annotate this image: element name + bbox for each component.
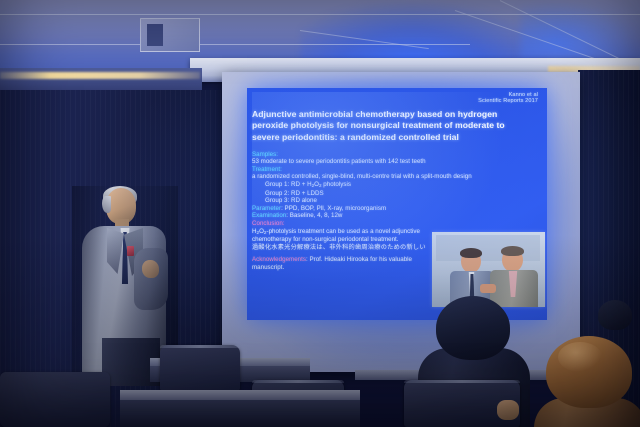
examination-value: : Baseline, 4, 8, 12w <box>286 212 342 219</box>
photo-inset-hair <box>501 246 524 256</box>
ceiling-blue-glow-right <box>520 0 640 60</box>
slide-attribution-journal: Scientific Reports 2017 <box>252 98 542 104</box>
audience-head <box>436 296 510 360</box>
photo-inset-hair <box>460 248 482 258</box>
audience-head <box>598 300 632 330</box>
cove-light-strip <box>0 72 200 79</box>
slide-title: Adjunctive antimicrobial chemotherapy ba… <box>252 109 542 144</box>
photo-inset-handshake <box>480 284 496 293</box>
parameter-value: : PPD, BOP, PlI, X-ray, microorganism <box>281 205 386 212</box>
presenter-arm <box>134 248 168 310</box>
group-1-line: Group 1: RD + H2O2 photolysis <box>252 181 542 190</box>
slide-title-line-2: peroxide photolysis for nonsurgical trea… <box>252 120 542 132</box>
presenter-hair-side <box>102 196 111 213</box>
section-heading-conclusion: Conclusion: <box>252 220 542 228</box>
chair <box>160 345 240 391</box>
audience-member-3 <box>598 300 640 360</box>
acknowledgements-label: Acknowledgements <box>252 256 306 263</box>
acknowledgements-value: : Prof. Hideaki Hirooka for his valuable <box>306 256 412 263</box>
ceiling-tile-line <box>0 14 640 15</box>
examination-line: Examination: Baseline, 4, 8, 12w <box>252 212 542 220</box>
examination-label: Examination <box>252 212 286 219</box>
presentation-photo-scene: Kanno et al Scientific Reports 2017 Adju… <box>0 0 640 427</box>
audience-hair-highlight <box>558 342 602 372</box>
presenter-hand <box>142 260 159 278</box>
projected-slide: Kanno et al Scientific Reports 2017 Adju… <box>247 88 547 320</box>
conference-table-front-skirt <box>120 400 360 427</box>
slide-title-line-1: Adjunctive antimicrobial chemotherapy ba… <box>252 109 542 121</box>
treatment-line: a randomized controlled, single-blind, m… <box>252 173 542 181</box>
parameter-label: Parameter <box>252 205 281 212</box>
audience-hand <box>497 400 519 420</box>
presenter-name-badge <box>127 246 134 256</box>
slide-title-line-3: severe periodontitis: a randomized contr… <box>252 132 542 144</box>
chair <box>0 372 110 427</box>
group-3-line: Group 3: RD alone <box>252 197 542 205</box>
ceiling-vent <box>140 18 200 52</box>
samples-line: 53 moderate to severe periodontitis pati… <box>252 158 542 166</box>
